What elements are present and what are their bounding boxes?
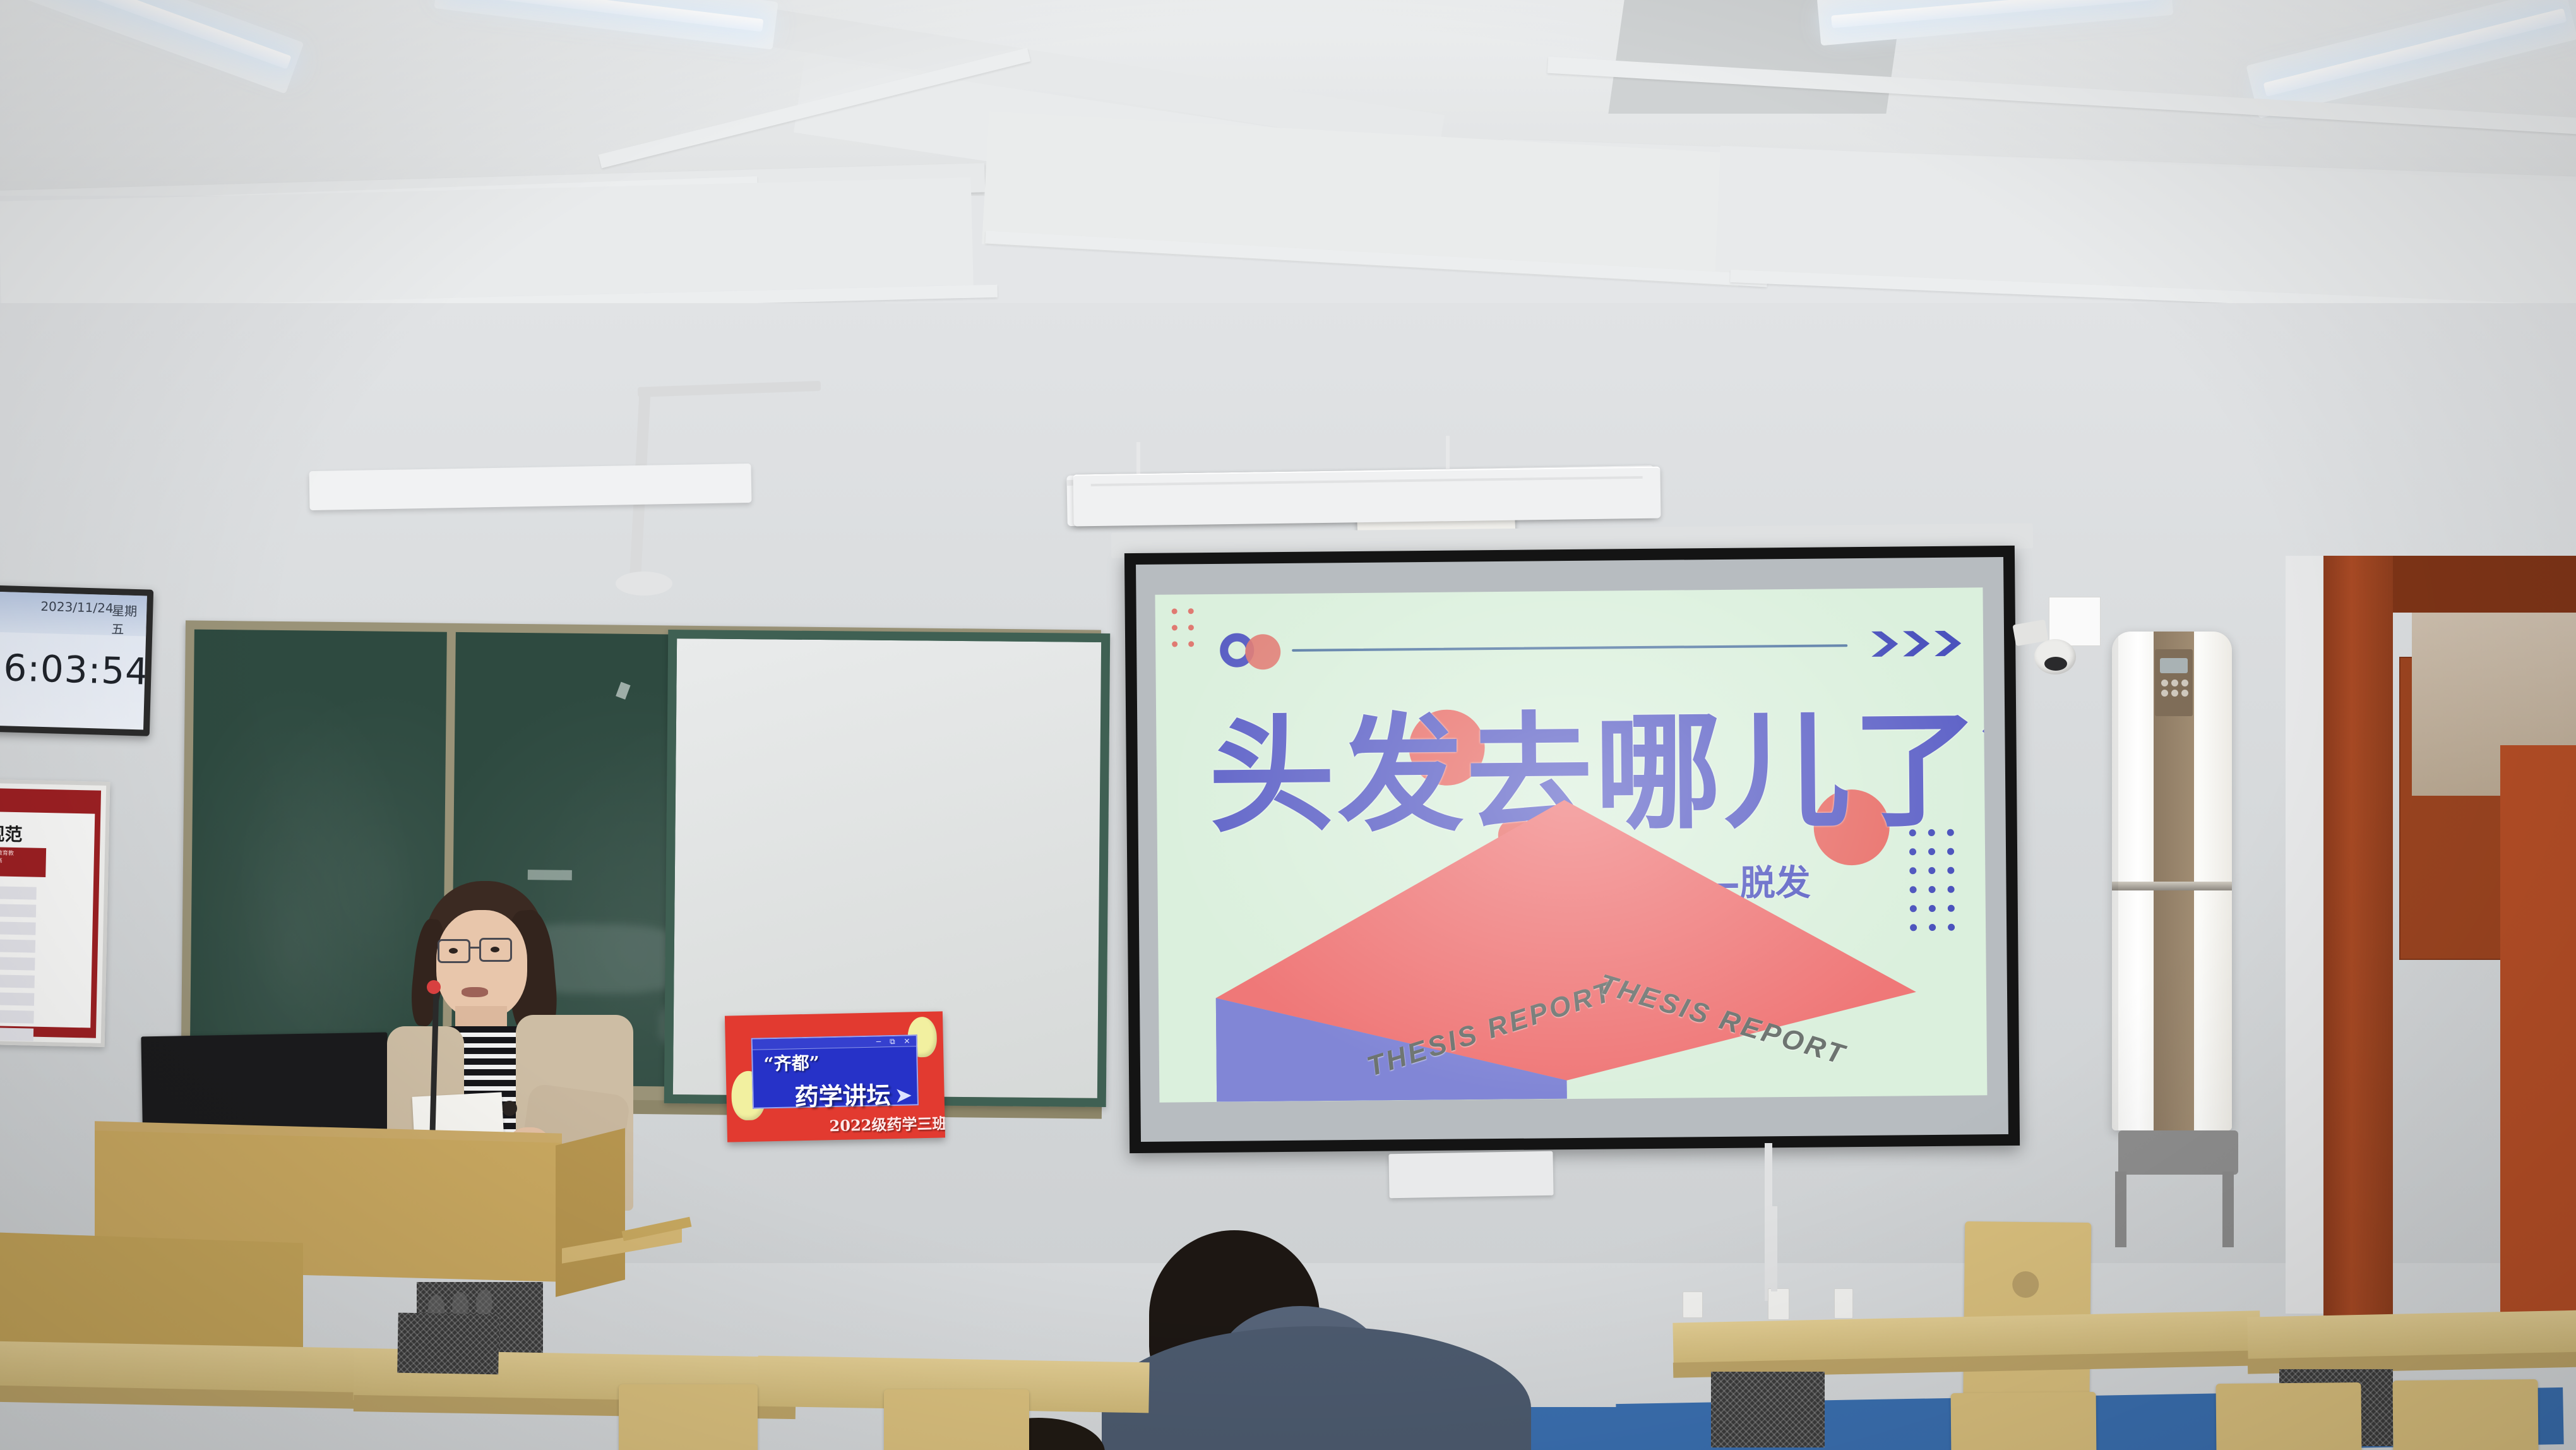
poster-banner: 教师是学校的根本代表，教育教 学是学校的中心工作，提高 教学质量，是学校教育的: [0, 846, 46, 877]
class-forum-sign: ─ ⧉ ✕ “齐都” 药学讲坛 2022级药学三班 ➤: [725, 1011, 945, 1142]
wall-outlet-1[interactable]: [1683, 1291, 1703, 1318]
camera-lens: [2044, 657, 2067, 671]
wall-outlet-3[interactable]: [1834, 1288, 1853, 1319]
poster-item-8: 课外活动。: [0, 1009, 34, 1024]
ac-chrome-band: [2112, 882, 2232, 890]
chevron-right-icon-group: [1870, 626, 1971, 663]
cursor-arrow-icon: ➤: [894, 1082, 912, 1108]
classroom-photo: 2023/11/24 星期五 16:03:54 学教师规范 教师是学校的根本代表…: [0, 0, 2576, 1450]
panel-hanger-left: [1136, 442, 1140, 474]
blackboard-lamp-head: [616, 572, 672, 596]
coral-dot-grid: [1172, 608, 1205, 657]
ac-button[interactable]: [2181, 680, 2188, 686]
air-conditioner: [2112, 632, 2232, 1130]
window-controls: ─ ⧉ ✕: [876, 1036, 914, 1046]
ac-button[interactable]: [2181, 690, 2188, 697]
poster-item-2: 教学秩序。: [0, 902, 36, 918]
desk-mesh-left: [397, 1313, 499, 1375]
header-rule: [1292, 644, 1847, 652]
podium-side: [556, 1128, 625, 1297]
microphone-head: [427, 980, 441, 994]
sign-window-titlebar: ─ ⧉ ✕: [753, 1036, 915, 1050]
poster-banner-line-1: 教师是学校的根本代表，教育教: [0, 848, 44, 858]
presenter-mouth: [462, 987, 488, 997]
poster-item-1: 教学任务。: [0, 885, 37, 900]
presenter-face: [436, 910, 527, 1019]
clock-display: 2023/11/24 星期五 16:03:54: [0, 592, 147, 730]
chair-back-right-2[interactable]: [2216, 1382, 2362, 1450]
ac-button[interactable]: [2171, 680, 2178, 686]
chair-back-right-1[interactable]: [1951, 1392, 2097, 1450]
poster-title: 学教师规范: [0, 819, 23, 846]
blackboard-light-fixture: [309, 464, 752, 510]
projection-screen: 头发去哪儿了？ ——脱发: [1124, 546, 2020, 1153]
pyramid-graphic: [1157, 791, 1987, 1103]
poster-item-9: 教书育人。: [0, 1026, 33, 1041]
chair-back-left-1[interactable]: [619, 1384, 758, 1450]
sign-line-2: 药学讲坛: [794, 1076, 891, 1112]
poster-item-4: 教学方法。: [0, 938, 35, 953]
panel-hanger-right: [1446, 436, 1450, 472]
clock-monitor: 2023/11/24 星期五 16:03:54: [0, 585, 153, 736]
chalk-mark: [528, 870, 572, 880]
presenter-eye-left: [449, 948, 458, 954]
poster-item-3: 教学内容。: [0, 920, 36, 935]
mesh-detail: [476, 1290, 492, 1317]
outlet-conduit: [1771, 1206, 1777, 1291]
ac-leg-right: [2222, 1171, 2234, 1247]
chevron-right-icon: [1870, 626, 1971, 660]
clock-date: 2023/11/24: [40, 599, 114, 616]
screen-housing: [1073, 467, 1661, 527]
ac-base: [2118, 1130, 2238, 1175]
chair-handle-hole: [2012, 1271, 2039, 1298]
chalk-mark: [616, 682, 630, 700]
poster-white-body: 学教师规范 教师是学校的根本代表，教育教 学是学校的中心工作，提高 教学质量，是…: [0, 811, 95, 1028]
chair-back-right-3[interactable]: [2393, 1379, 2539, 1450]
poster-item-5: 考试方法。: [0, 956, 35, 971]
clock-weekday: 星期五: [111, 601, 147, 638]
poster-item-7: 辅导答疑。: [0, 991, 34, 1006]
chair-back-left-2[interactable]: [884, 1389, 1029, 1450]
classroom-door[interactable]: [2323, 556, 2393, 1333]
ac-edge-shadow: [2112, 632, 2118, 1130]
ac-button[interactable]: [2171, 690, 2178, 697]
clock-time: 16:03:54: [0, 645, 147, 693]
ceiling-speaker: [1388, 1151, 1553, 1199]
poster-item-6: 教学研究。: [0, 973, 35, 988]
door-right-leaf[interactable]: [2500, 745, 2576, 1314]
screen-surface: 头发去哪儿了？ ——脱发: [1136, 557, 2008, 1142]
sign-line-1: “齐都”: [763, 1050, 820, 1076]
door-header: [2393, 556, 2576, 613]
cardigan-button: [502, 1101, 517, 1116]
ac-button[interactable]: [2161, 690, 2168, 697]
coral-circle-icon: [1245, 634, 1280, 669]
desk-mesh-right-1: [1711, 1372, 1825, 1447]
ac-leg-left: [2115, 1171, 2126, 1247]
ac-button[interactable]: [2161, 680, 2168, 686]
presentation-slide: 头发去哪儿了？ ——脱发: [1155, 587, 1988, 1103]
wall-outlet-2[interactable]: [1768, 1288, 1789, 1320]
presenter-eye-right: [491, 947, 499, 952]
teacher-norms-poster: 学教师规范 教师是学校的根本代表，教育教 学是学校的中心工作，提高 教学质量，是…: [0, 778, 110, 1047]
sign-line-3: 2022级药学三班: [829, 1111, 945, 1135]
glasses-bridge: [470, 947, 480, 949]
ac-display: [2160, 658, 2188, 673]
